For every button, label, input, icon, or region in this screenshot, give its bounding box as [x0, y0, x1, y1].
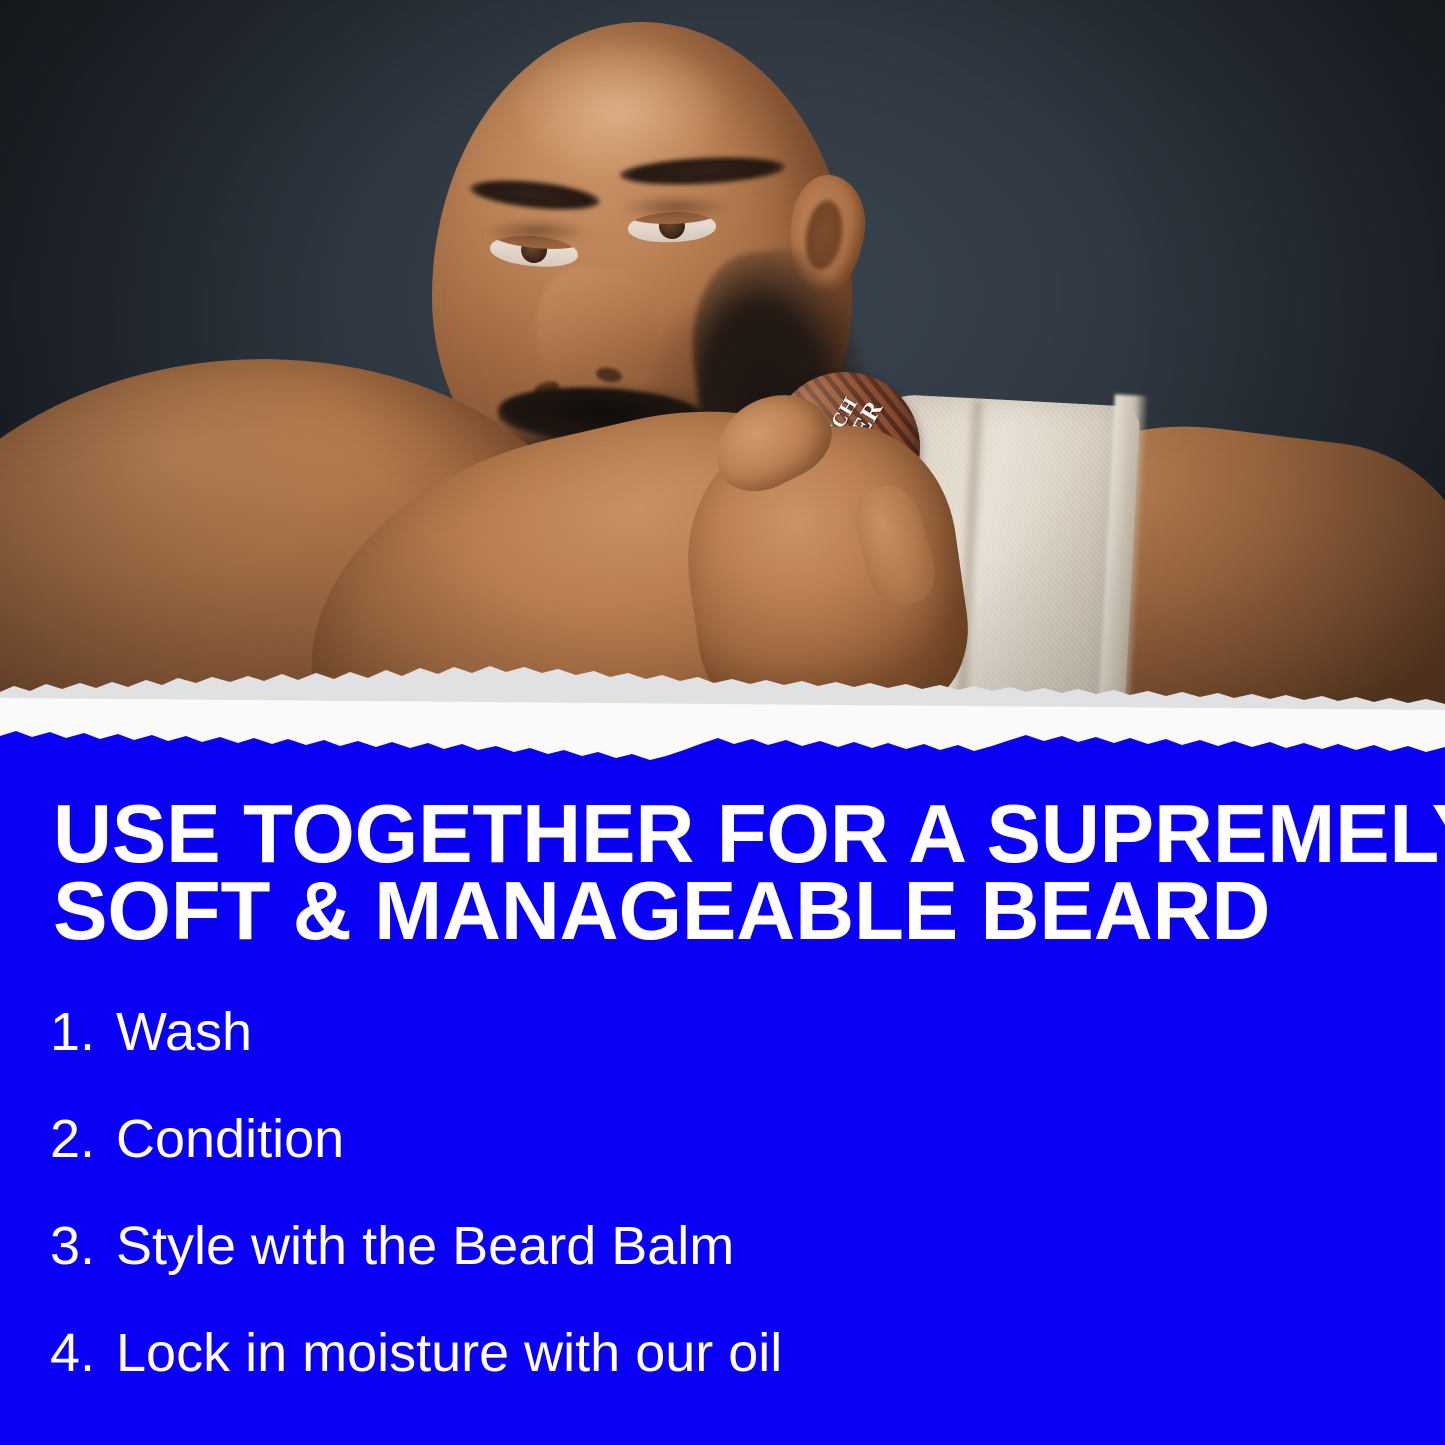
eye-shadow-right	[620, 198, 732, 220]
usage-steps-list: 1. Wash 2. Condition 3. Style with the B…	[50, 1005, 1350, 1433]
page-title: USE TOGETHER FOR A SUPREMELY SOFT & MANA…	[53, 795, 1412, 949]
headline-line-1: USE TOGETHER FOR A SUPREMELY	[53, 795, 1412, 872]
step-number: 3.	[50, 1219, 116, 1273]
product-marketing-banner: SCOTCH PORTER 1911 USE TOGETHER FOR A SU…	[0, 0, 1445, 1445]
hero-photo: SCOTCH PORTER 1911	[0, 0, 1445, 730]
head-highlight	[520, 45, 720, 175]
step-label: Condition	[116, 1112, 344, 1166]
headline-line-2: SOFT & MANAGEABLE BEARD	[53, 872, 1412, 949]
list-item: 4. Lock in moisture with our oil	[50, 1326, 1350, 1433]
step-label: Wash	[116, 1005, 252, 1059]
list-item: 1. Wash	[50, 1005, 1350, 1112]
eye-shadow-left	[482, 222, 590, 244]
step-number: 1.	[50, 1005, 116, 1059]
step-label: Style with the Beard Balm	[116, 1219, 734, 1273]
list-item: 2. Condition	[50, 1112, 1350, 1219]
step-label: Lock in moisture with our oil	[116, 1326, 782, 1380]
step-number: 2.	[50, 1112, 116, 1166]
list-item: 3. Style with the Beard Balm	[50, 1219, 1350, 1326]
step-number: 4.	[50, 1326, 116, 1380]
